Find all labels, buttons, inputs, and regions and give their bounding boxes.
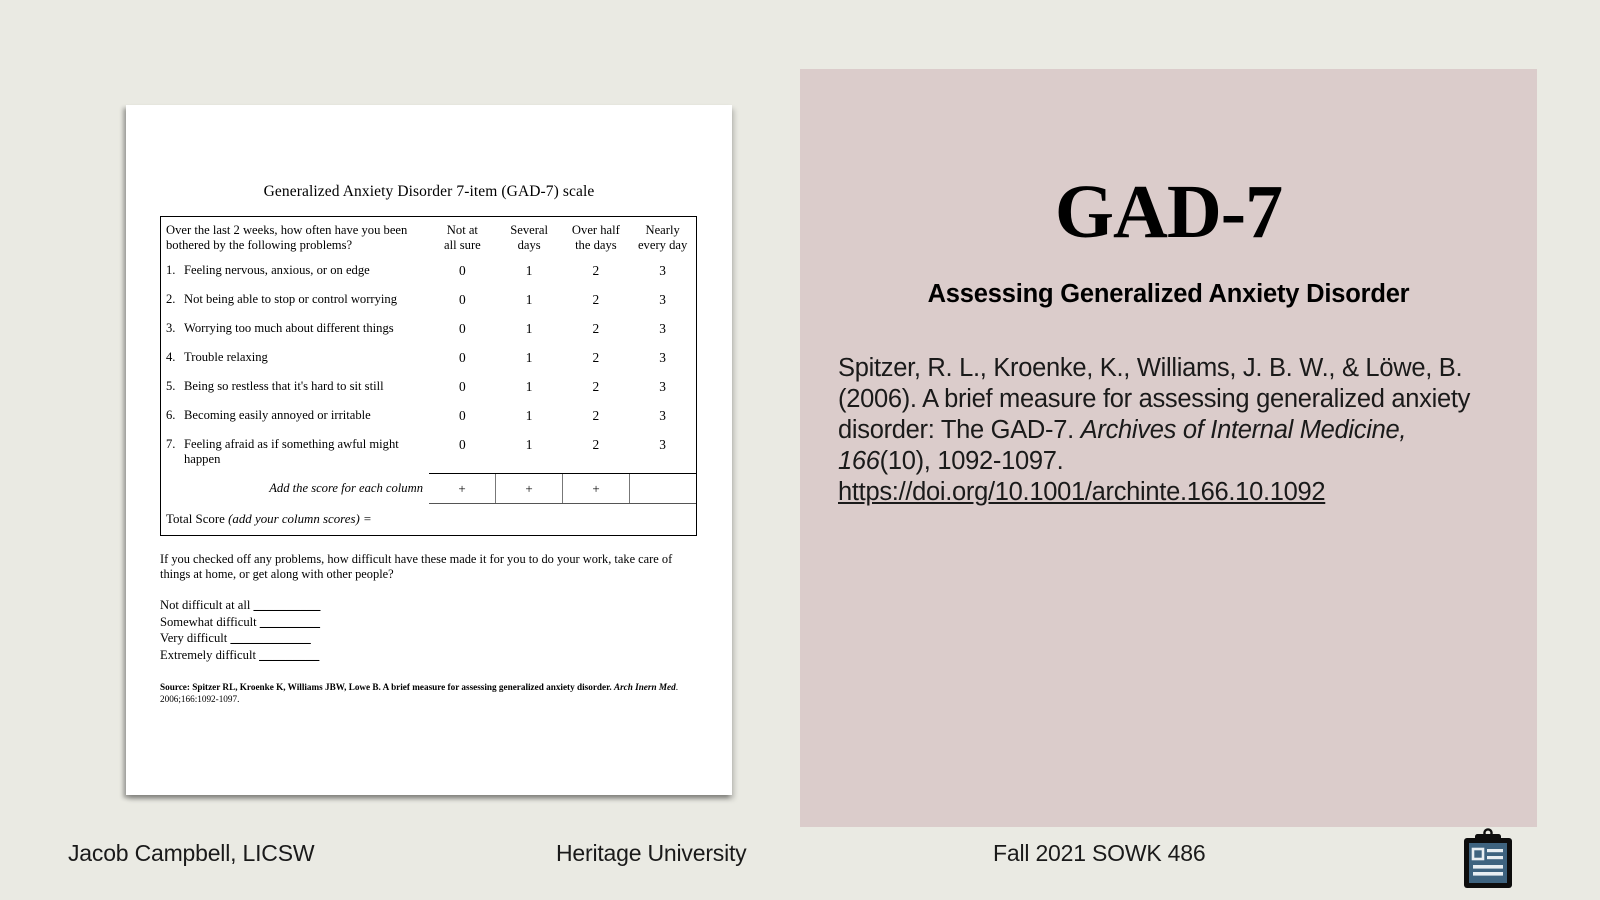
- title-panel: GAD-7 Assessing Generalized Anxiety Diso…: [800, 69, 1537, 827]
- difficulty-option-not-difficult-at-all: Not difficult at all __________: [160, 597, 320, 614]
- column-header-line-1: Not at: [429, 223, 496, 238]
- difficulty-option-label: Very difficult: [160, 631, 227, 645]
- column-header-not-at-all: Not at all sure: [429, 223, 496, 254]
- table-row: 5. Being so restless that it's hard to s…: [161, 372, 696, 401]
- item-value-1: 1: [496, 408, 563, 424]
- column-header-line-2: days: [496, 238, 563, 253]
- item-question-cell: 6. Becoming easily annoyed or irritable: [161, 408, 429, 423]
- item-value-0: 0: [429, 263, 496, 279]
- footer-author: Jacob Campbell, LICSW: [68, 840, 314, 867]
- add-score-columns: + + +: [429, 473, 696, 504]
- source-prefix: Source: Spitzer RL, Kroenke K, Williams …: [160, 682, 614, 692]
- item-value-1: 1: [496, 263, 563, 279]
- column-header-several-days: Several days: [496, 223, 563, 254]
- item-number: 3.: [166, 321, 179, 336]
- difficulty-option-label: Extremely difficult: [160, 648, 256, 662]
- item-text: Worrying too much about different things: [184, 321, 394, 336]
- column-header-over-half-the-days: Over half the days: [563, 223, 630, 254]
- table-prompt-cell: Over the last 2 weeks, how often have yo…: [161, 223, 429, 254]
- item-value-3: 3: [629, 292, 696, 308]
- difficulty-option-label: Not difficult at all: [160, 598, 250, 612]
- add-score-mark-2: +: [563, 474, 630, 504]
- column-header-nearly-every-day: Nearly every day: [629, 223, 696, 254]
- item-value-1: 1: [496, 292, 563, 308]
- item-value-1: 1: [496, 350, 563, 366]
- difficulty-option-somewhat-difficult: Somewhat difficult _________: [160, 614, 320, 631]
- column-header-line-1: Several: [496, 223, 563, 238]
- item-text: Being so restless that it's hard to sit …: [184, 379, 384, 394]
- item-question-cell: 1. Feeling nervous, anxious, or on edge: [161, 263, 429, 278]
- table-row: 7. Feeling afraid as if something awful …: [161, 430, 696, 467]
- item-value-0: 0: [429, 408, 496, 424]
- item-text: Feeling afraid as if something awful mig…: [184, 437, 429, 467]
- item-question-cell: 5. Being so restless that it's hard to s…: [161, 379, 429, 394]
- table-row: 1. Feeling nervous, anxious, or on edge …: [161, 256, 696, 285]
- column-header-line-2: every day: [629, 238, 696, 253]
- item-value-0: 0: [429, 437, 496, 453]
- table-row: 3. Worrying too much about different thi…: [161, 314, 696, 343]
- difficulty-options: Not difficult at all __________ Somewhat…: [160, 597, 320, 664]
- item-value-3: 3: [629, 263, 696, 279]
- item-number: 7.: [166, 437, 179, 467]
- citation-doi-link[interactable]: https://doi.org/10.1001/archinte.166.10.…: [838, 478, 1325, 506]
- item-question-cell: 4. Trouble relaxing: [161, 350, 429, 365]
- item-value-2: 2: [563, 292, 630, 308]
- item-value-0: 0: [429, 321, 496, 337]
- add-score-mark-1: +: [496, 474, 563, 504]
- citation-block: Spitzer, R. L., Kroenke, K., Williams, J…: [838, 353, 1498, 509]
- add-score-label: Add the score for each column: [161, 481, 429, 496]
- item-value-0: 0: [429, 350, 496, 366]
- slide-footer: Jacob Campbell, LICSW Heritage Universit…: [0, 836, 1600, 886]
- difficulty-option-blank: __________: [254, 598, 321, 612]
- item-question-cell: 7. Feeling afraid as if something awful …: [161, 437, 429, 467]
- item-text: Not being able to stop or control worryi…: [184, 292, 397, 307]
- footer-course: Fall 2021 SOWK 486: [993, 840, 1205, 867]
- item-value-2: 2: [563, 379, 630, 395]
- column-header-line-2: all sure: [429, 238, 496, 253]
- difficulty-option-extremely-difficult: Extremely difficult _________: [160, 647, 320, 664]
- document-source-note: Source: Spitzer RL, Kroenke K, Williams …: [160, 682, 680, 706]
- item-value-2: 2: [563, 408, 630, 424]
- item-number: 1.: [166, 263, 179, 278]
- item-number: 4.: [166, 350, 179, 365]
- item-value-0: 0: [429, 379, 496, 395]
- total-score-label: Total Score: [166, 512, 225, 526]
- item-value-2: 2: [563, 321, 630, 337]
- page-subtitle: Assessing Generalized Anxiety Disorder: [800, 280, 1537, 309]
- item-value-2: 2: [563, 263, 630, 279]
- item-value-1: 1: [496, 379, 563, 395]
- item-text: Trouble relaxing: [184, 350, 268, 365]
- difficulty-option-blank: _________: [260, 615, 320, 629]
- total-score-note: (add your column scores) =: [228, 512, 372, 526]
- table-row: 6. Becoming easily annoyed or irritable …: [161, 401, 696, 430]
- item-value-3: 3: [629, 321, 696, 337]
- total-score-row: Total Score (add your column scores) =: [161, 503, 696, 535]
- difficulty-option-blank: _________: [259, 648, 319, 662]
- item-value-0: 0: [429, 292, 496, 308]
- add-score-underline: [429, 503, 696, 504]
- add-score-row: Add the score for each column + + +: [161, 473, 696, 503]
- add-score-mark-3: [630, 474, 696, 504]
- add-score-mark-0: +: [429, 474, 496, 504]
- item-value-3: 3: [629, 437, 696, 453]
- difficulty-option-label: Somewhat difficult: [160, 615, 257, 629]
- item-text: Feeling nervous, anxious, or on edge: [184, 263, 370, 278]
- source-journal: Arch Inern Med: [614, 682, 676, 692]
- gad7-table: Over the last 2 weeks, how often have yo…: [160, 216, 697, 536]
- column-header-line-1: Over half: [563, 223, 630, 238]
- document-title: Generalized Anxiety Disorder 7-item (GAD…: [126, 183, 732, 201]
- table-row: 2. Not being able to stop or control wor…: [161, 285, 696, 314]
- citation-part-2: (10), 1092-1097.: [880, 447, 1064, 475]
- item-question-cell: 3. Worrying too much about different thi…: [161, 321, 429, 336]
- gad7-scanned-document: Generalized Anxiety Disorder 7-item (GAD…: [126, 105, 732, 795]
- difficulty-option-very-difficult: Very difficult ____________: [160, 630, 320, 647]
- table-row: 4. Trouble relaxing 0 1 2 3: [161, 343, 696, 372]
- column-header-line-2: the days: [563, 238, 630, 253]
- item-number: 6.: [166, 408, 179, 423]
- item-value-3: 3: [629, 408, 696, 424]
- item-number: 2.: [166, 292, 179, 307]
- footer-university: Heritage University: [556, 840, 747, 867]
- item-question-cell: 2. Not being able to stop or control wor…: [161, 292, 429, 307]
- column-header-line-1: Nearly: [629, 223, 696, 238]
- item-value-3: 3: [629, 379, 696, 395]
- item-value-1: 1: [496, 437, 563, 453]
- page-title: GAD-7: [800, 174, 1537, 250]
- table-prompt-line-1: Over the last 2 weeks, how often have yo…: [166, 223, 429, 238]
- item-text: Becoming easily annoyed or irritable: [184, 408, 371, 423]
- difficulty-option-blank: ____________: [230, 631, 310, 645]
- item-value-3: 3: [629, 350, 696, 366]
- difficulty-question: If you checked off any problems, how dif…: [160, 552, 700, 583]
- table-header-row: Over the last 2 weeks, how often have yo…: [161, 217, 696, 256]
- item-value-2: 2: [563, 350, 630, 366]
- item-value-2: 2: [563, 437, 630, 453]
- clipboard-icon[interactable]: [1460, 828, 1516, 890]
- item-number: 5.: [166, 379, 179, 394]
- table-prompt-line-2: bothered by the following problems?: [166, 238, 429, 253]
- item-value-1: 1: [496, 321, 563, 337]
